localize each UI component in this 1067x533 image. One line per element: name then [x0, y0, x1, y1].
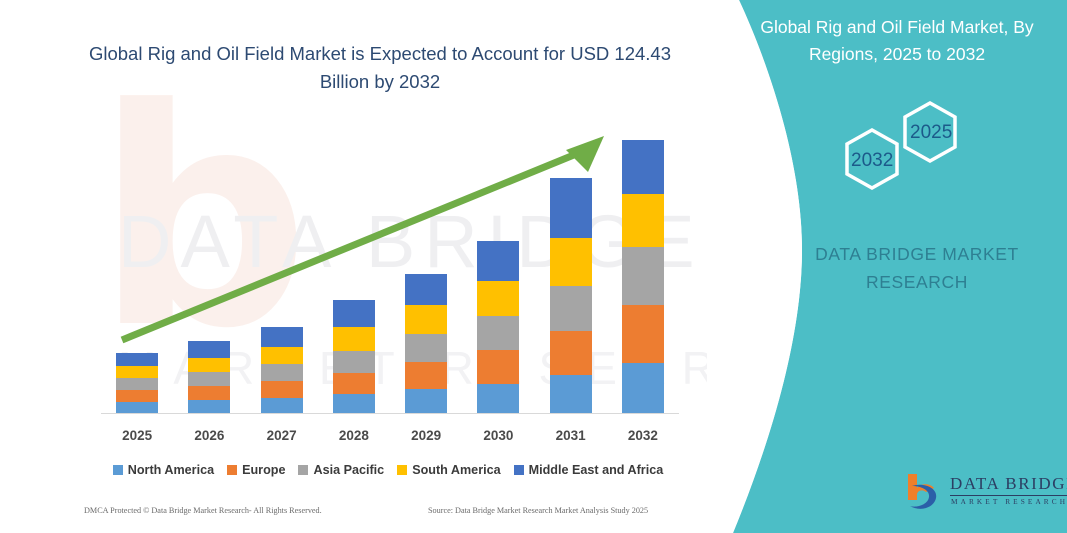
- legend-item-asia-pacific[interactable]: Asia Pacific: [298, 463, 384, 477]
- legend-label: Middle East and Africa: [529, 463, 664, 477]
- legend-swatch-icon: [514, 465, 524, 475]
- x-label-2032: 2032: [613, 428, 673, 443]
- bar-segment: [477, 281, 519, 316]
- bar-segment: [477, 241, 519, 281]
- bar-segment: [261, 347, 303, 364]
- legend-label: Asia Pacific: [313, 463, 384, 477]
- bar-segment: [188, 358, 230, 372]
- bar-segment: [622, 363, 664, 413]
- bar-segment: [333, 300, 375, 327]
- x-label-2025: 2025: [107, 428, 167, 443]
- bar-segment: [405, 362, 447, 389]
- bar-2028: [333, 300, 375, 413]
- legend-item-europe[interactable]: Europe: [227, 463, 285, 477]
- brand-caption: DATA BRIDGE MARKET RESEARCH: [767, 240, 1067, 296]
- bar-segment: [261, 398, 303, 413]
- legend-swatch-icon: [227, 465, 237, 475]
- x-label-2027: 2027: [252, 428, 312, 443]
- bar-segment: [261, 364, 303, 381]
- bar-segment: [188, 386, 230, 400]
- plot-area: [88, 110, 688, 413]
- bar-segment: [622, 305, 664, 363]
- bar-segment: [405, 274, 447, 305]
- bar-segment: [550, 286, 592, 331]
- bar-segment: [116, 366, 158, 378]
- bar-chart: [88, 110, 688, 420]
- bar-segment: [333, 327, 375, 351]
- bar-segment: [188, 400, 230, 413]
- bar-segment: [405, 334, 447, 362]
- hexagon-group: 2032 2025: [817, 92, 1067, 212]
- legend-swatch-icon: [397, 465, 407, 475]
- bar-2025: [116, 353, 158, 413]
- chart-legend: North AmericaEuropeAsia PacificSouth Ame…: [88, 461, 688, 479]
- bar-segment: [116, 402, 158, 413]
- bar-segment: [477, 384, 519, 413]
- x-label-2026: 2026: [179, 428, 239, 443]
- bar-segment: [550, 178, 592, 238]
- bar-segment: [477, 350, 519, 384]
- bar-2027: [261, 327, 303, 413]
- bar-segment: [333, 373, 375, 394]
- x-label-2030: 2030: [468, 428, 528, 443]
- bar-segment: [116, 390, 158, 402]
- legend-label: North America: [128, 463, 214, 477]
- footer-source: Source: Data Bridge Market Research Mark…: [428, 506, 648, 515]
- bar-2029: [405, 274, 447, 413]
- bar-2032: [622, 140, 664, 413]
- legend-item-middle-east-and-africa[interactable]: Middle East and Africa: [514, 463, 664, 477]
- bar-segment: [622, 140, 664, 194]
- bar-segment: [405, 305, 447, 334]
- bar-segment: [261, 381, 303, 398]
- logo-mark-icon: [902, 470, 948, 516]
- x-label-2031: 2031: [541, 428, 601, 443]
- infographic-canvas: b DATA BRIDGE MARKET RESEARCH Global Rig…: [0, 0, 1067, 533]
- brand-logo: DATA BRIDGE MARKET RESEARCH: [902, 470, 1067, 522]
- bar-segment: [116, 378, 158, 390]
- growth-arrow-icon: [88, 110, 688, 420]
- footer-copyright: DMCA Protected © Data Bridge Market Rese…: [84, 506, 322, 515]
- legend-item-north-america[interactable]: North America: [113, 463, 214, 477]
- bar-segment: [622, 247, 664, 305]
- bar-segment: [188, 341, 230, 358]
- bar-2031: [550, 178, 592, 413]
- bar-segment: [550, 238, 592, 286]
- bar-segment: [333, 351, 375, 373]
- bar-segment: [261, 327, 303, 347]
- x-axis-labels: 20252026202720282029203020312032: [88, 428, 688, 448]
- bar-segment: [550, 331, 592, 375]
- bar-segment: [188, 372, 230, 386]
- bar-2030: [477, 241, 519, 413]
- bar-segment: [550, 375, 592, 413]
- bar-2026: [188, 341, 230, 413]
- legend-swatch-icon: [113, 465, 123, 475]
- right-panel: Global Rig and Oil Field Market, By Regi…: [707, 0, 1067, 533]
- bar-segment: [116, 353, 158, 366]
- x-axis-line: [101, 413, 679, 414]
- legend-label: Europe: [242, 463, 285, 477]
- bar-segment: [333, 394, 375, 413]
- panel-title: Global Rig and Oil Field Market, By Regi…: [737, 14, 1057, 68]
- bar-segment: [477, 316, 519, 350]
- logo-divider: [950, 495, 1067, 496]
- hexagon-label-right: 2025: [910, 122, 952, 144]
- x-label-2028: 2028: [324, 428, 384, 443]
- legend-item-south-america[interactable]: South America: [397, 463, 500, 477]
- bar-segment: [405, 389, 447, 413]
- page-title: Global Rig and Oil Field Market is Expec…: [70, 40, 690, 96]
- legend-swatch-icon: [298, 465, 308, 475]
- bar-segment: [622, 194, 664, 247]
- hexagon-label-left: 2032: [851, 150, 893, 172]
- x-label-2029: 2029: [396, 428, 456, 443]
- logo-subtitle: MARKET RESEARCH: [951, 497, 1067, 506]
- logo-title: DATA BRIDGE: [950, 474, 1067, 494]
- footer: DMCA Protected © Data Bridge Market Rese…: [0, 506, 700, 526]
- legend-label: South America: [412, 463, 500, 477]
